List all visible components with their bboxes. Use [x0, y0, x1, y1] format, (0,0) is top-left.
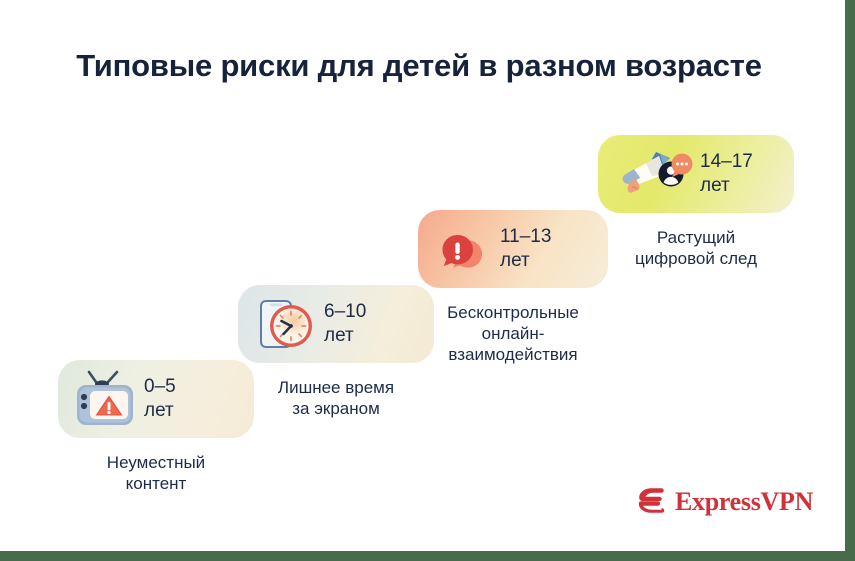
age-line-2: лет — [500, 249, 594, 273]
frame-accent-right — [845, 0, 855, 561]
card-11-13: 11–13 лет — [418, 210, 608, 288]
caption-line-2: контент — [58, 473, 254, 494]
page-title: Типовые риски для детей в разном возраст… — [0, 48, 838, 84]
age-range-11-13: 11–13 лет — [494, 225, 594, 273]
age-line-1: 11–13 — [500, 225, 594, 249]
age-line-2: лет — [144, 399, 240, 423]
card-0-5: 0–5 лет — [58, 360, 254, 438]
caption-line-1: Растущий — [598, 227, 794, 248]
step-card-0-5: 0–5 лет Неуместный контент — [58, 360, 254, 494]
age-line-2: лет — [324, 324, 420, 348]
card-14-17: 14–17 лет — [598, 135, 794, 213]
tv-warning-icon — [72, 368, 138, 430]
step-card-14-17: 14–17 лет Растущий цифровой след — [598, 135, 794, 269]
step-card-6-10: 6–10 лет Лишнее время за экраном — [238, 285, 434, 419]
expressvpn-e-mark — [636, 484, 666, 519]
age-line-1: 0–5 — [144, 375, 240, 399]
caption-0-5: Неуместный контент — [58, 452, 254, 494]
age-line-1: 14–17 — [700, 150, 780, 174]
step-card-11-13: 11–13 лет Бесконтрольные онлайн- взаимод… — [418, 210, 608, 365]
age-line-1: 6–10 — [324, 300, 420, 324]
phone-clock-icon — [252, 293, 318, 355]
caption-6-10: Лишнее время за экраном — [238, 377, 434, 419]
age-line-2: лет — [700, 174, 780, 198]
age-range-14-17: 14–17 лет — [694, 150, 780, 198]
expressvpn-wordmark: ExpressVPN — [675, 487, 813, 517]
frame-accent-bottom — [0, 551, 855, 561]
expressvpn-logo: ExpressVPN — [636, 484, 813, 519]
caption-line-1: Неуместный — [58, 452, 254, 473]
caption-line-2: цифровой след — [598, 248, 794, 269]
caption-line-1: Лишнее время — [238, 377, 434, 398]
age-range-6-10: 6–10 лет — [318, 300, 420, 348]
age-range-0-5: 0–5 лет — [138, 375, 240, 423]
caption-line-3: взаимодействия — [418, 344, 608, 365]
card-6-10: 6–10 лет — [238, 285, 434, 363]
caption-line-1: Бесконтрольные — [418, 302, 608, 323]
caption-line-2: онлайн- — [418, 323, 608, 344]
infographic-canvas: Типовые риски для детей в разном возраст… — [0, 0, 855, 561]
megaphone-profile-icon — [612, 144, 694, 204]
speech-bubbles-alert-icon — [432, 220, 494, 278]
caption-line-2: за экраном — [238, 398, 434, 419]
caption-11-13: Бесконтрольные онлайн- взаимодействия — [418, 302, 608, 365]
caption-14-17: Растущий цифровой след — [598, 227, 794, 269]
